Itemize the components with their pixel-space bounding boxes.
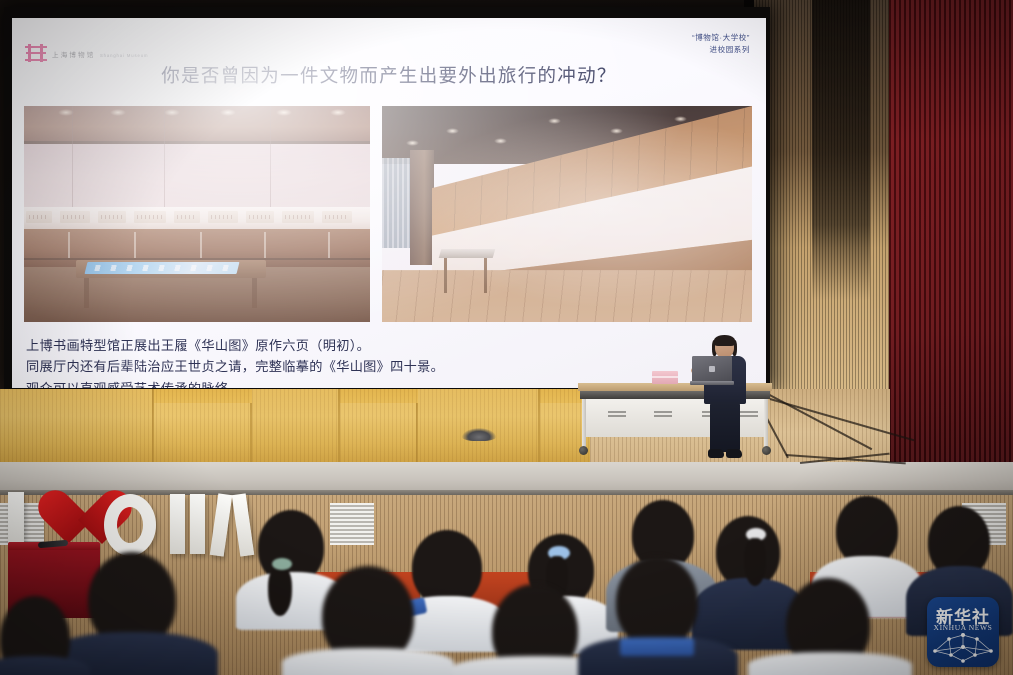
gallery-display-case-band — [24, 207, 370, 229]
wall-shadow — [812, 0, 870, 300]
xinhua-news-watermark: 新华社 XINHUA NEWS — [927, 597, 999, 667]
student-shoulders — [748, 652, 912, 675]
student-shoulders — [282, 648, 454, 675]
slide-image-gallery-frontal — [24, 106, 370, 322]
slide-caption: 上博书画特型馆正展出王履《华山图》原作六页（明初）。 同展厅内还有后辈陆治应王世… — [26, 336, 546, 388]
caption-line-3: 观众可以直观感受艺术传承的脉络。 — [26, 379, 546, 388]
shanghai-museum-logo: 上海博物馆 Shanghai Museum — [25, 43, 148, 63]
stage-floor-emblem — [462, 428, 496, 441]
letter-stroke-1 — [170, 494, 185, 554]
museum-name-en: Shanghai Museum — [100, 53, 148, 58]
touchscreen-display — [85, 262, 240, 274]
museum-name-cn: 上海博物馆 — [52, 52, 96, 59]
letter-stroke-4 — [232, 493, 254, 556]
slide-title: 你是否曾因为一件文物而产生出要外出旅行的冲动？ — [12, 62, 766, 88]
letter-stroke-3 — [210, 493, 232, 556]
series-label: “博物馆·大学校” 进校园系列 — [692, 32, 750, 55]
student-head — [412, 530, 482, 606]
series-label-line2: 进校园系列 — [692, 44, 750, 56]
projection-screen-frame: 上海博物馆 Shanghai Museum “博物馆·大学校” 进校园系列 你是… — [4, 7, 770, 389]
series-label-line1: “博物馆·大学校” — [692, 32, 750, 44]
network-constellation-icon — [931, 633, 995, 665]
event-photograph: 上海博物馆 Shanghai Museum “博物馆·大学校” 进校园系列 你是… — [0, 0, 1013, 675]
presenter-laptop — [690, 356, 734, 386]
student-head — [616, 556, 698, 648]
slide-image-gallery-perspective — [382, 106, 752, 322]
gallery-upper-wood-beam — [24, 106, 370, 144]
caption-line-2: 同展厅内还有后辈陆治应王世贞之请，完整临摹的《华山图》四十景。 — [26, 357, 546, 378]
projection-screen: 上海博物馆 Shanghai Museum “博物馆·大学校” 进校园系列 你是… — [12, 18, 766, 388]
stage-step-risers — [0, 389, 590, 467]
stage-curtain — [889, 0, 1013, 470]
letter-stroke-2 — [190, 494, 205, 554]
pink-box-on-desk — [652, 371, 678, 384]
shanghai-museum-ding-logo-icon — [25, 43, 47, 63]
interactive-touch-table — [76, 260, 266, 308]
caption-line-1: 上博书画特型馆正展出王履《华山图》原作六页（明初）。 — [26, 336, 546, 357]
letter-o — [104, 494, 156, 556]
watermark-name-en: XINHUA NEWS — [927, 623, 999, 632]
gallery-wall — [24, 144, 370, 207]
